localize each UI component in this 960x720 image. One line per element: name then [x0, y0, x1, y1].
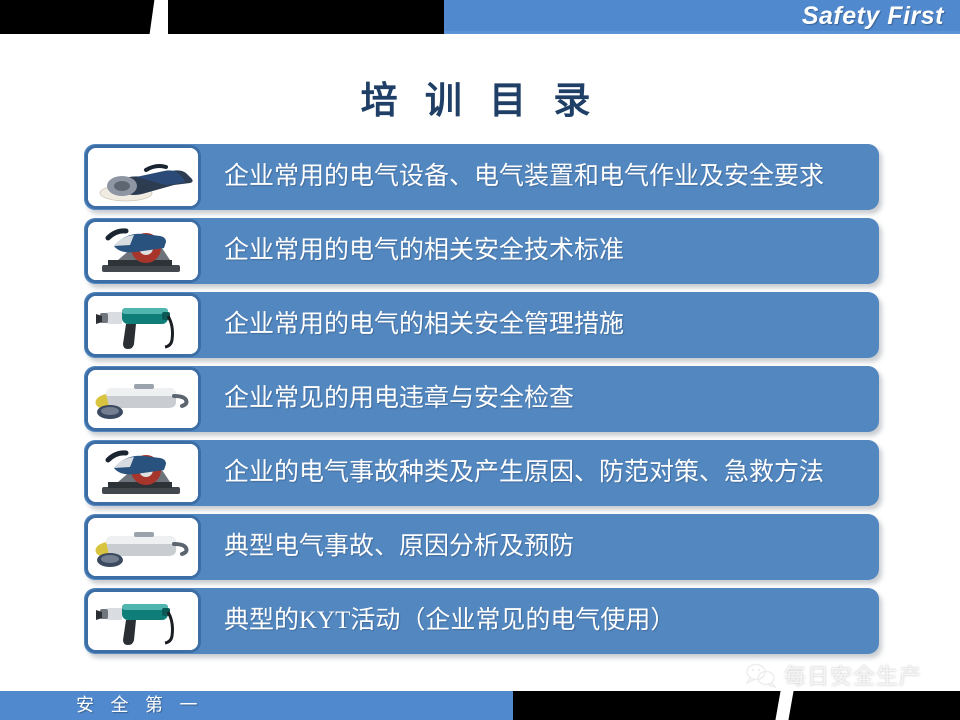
agenda-item-5[interactable]: 企业的电气事故种类及产生原因、防范对策、急救方法: [84, 440, 879, 506]
agenda-list: 企业常用的电气设备、电气装置和电气作业及安全要求 企业常用的电气的相关安全技术标…: [84, 144, 884, 662]
footer-black-block: [513, 691, 960, 720]
header-black-block-right: [168, 0, 444, 34]
angle-polisher-photo-icon: [85, 145, 201, 209]
watermark-text: 每日安全生产: [784, 659, 922, 691]
agenda-item-2[interactable]: 企业常用的电气的相关安全技术标准: [84, 218, 879, 284]
agenda-item-label: 典型的KYT活动（企业常见的电气使用）: [224, 588, 675, 654]
angle-grinder-photo-icon: [85, 367, 201, 431]
chop-saw-photo-icon: [85, 219, 201, 283]
header-blue-block: Safety First: [444, 0, 960, 34]
agenda-item-1[interactable]: 企业常用的电气设备、电气装置和电气作业及安全要求: [84, 144, 879, 210]
agenda-item-4[interactable]: 企业常见的用电违章与安全检查: [84, 366, 879, 432]
page-title: 培 训 目 录: [0, 70, 960, 124]
agenda-item-label: 企业常用的电气的相关安全技术标准: [224, 218, 624, 284]
agenda-item-6[interactable]: 典型电气事故、原因分析及预防: [84, 514, 879, 580]
agenda-item-3[interactable]: 企业常用的电气的相关安全管理措施: [84, 292, 879, 358]
agenda-item-label: 典型电气事故、原因分析及预防: [224, 514, 574, 580]
agenda-item-label: 企业常用的电气的相关安全管理措施: [224, 292, 624, 358]
brand-title: Safety First: [802, 1, 944, 32]
agenda-item-label: 企业常用的电气设备、电气装置和电气作业及安全要求: [224, 144, 824, 210]
electric-drill-photo-icon: [85, 293, 201, 357]
watermark: 每日安全生产: [744, 659, 956, 691]
top-header-bar: Safety First: [0, 0, 960, 34]
footer-slogan: 安 全 第 一: [76, 691, 204, 720]
agenda-item-label: 企业的电气事故种类及产生原因、防范对策、急救方法: [224, 440, 824, 506]
wechat-bubbles-icon: [744, 662, 778, 688]
electric-drill-photo-icon: [85, 589, 201, 653]
header-black-block-left: [0, 0, 158, 34]
angle-grinder-photo-icon: [85, 515, 201, 579]
chop-saw-photo-icon: [85, 441, 201, 505]
footer-bar: 安 全 第 一: [0, 691, 960, 720]
agenda-item-7[interactable]: 典型的KYT活动（企业常见的电气使用）: [84, 588, 879, 654]
agenda-item-label: 企业常见的用电违章与安全检查: [224, 366, 574, 432]
